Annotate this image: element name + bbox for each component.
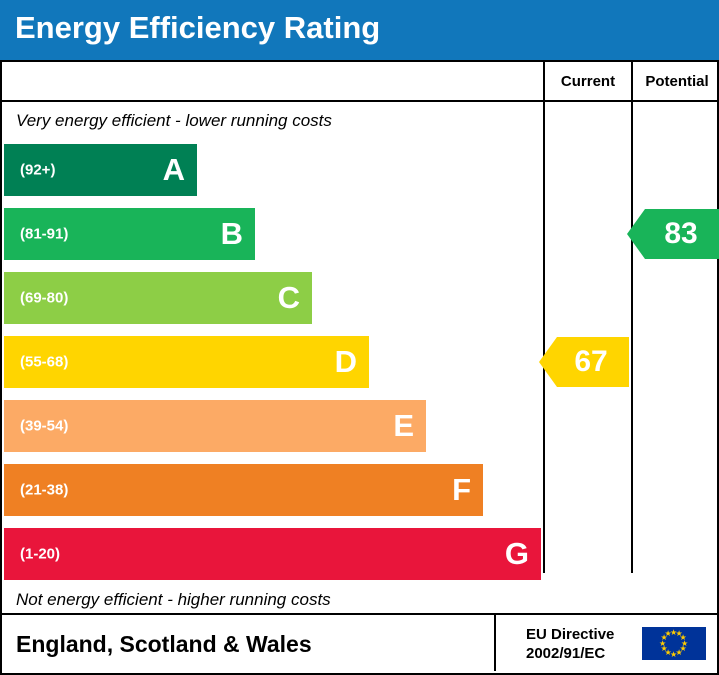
band-letter-g: G	[505, 536, 529, 572]
rating-value-current: 67	[574, 345, 611, 379]
chart-footer: England, Scotland & Wales EU Directive 2…	[0, 615, 719, 675]
band-bar-d: (55-68)D	[4, 336, 369, 388]
arrow-tip-icon	[539, 337, 557, 387]
eu-directive-line1: EU Directive	[526, 625, 614, 644]
chart-header: Energy Efficiency Rating	[0, 0, 719, 60]
band-bar-e: (39-54)E	[4, 400, 426, 452]
arrow-tip-icon	[627, 209, 645, 259]
band-bars: (92+)A(81-91)B(69-80)C(55-68)D(39-54)E(2…	[4, 142, 541, 592]
band-range-g: (1-20)	[20, 546, 60, 563]
band-range-d: (55-68)	[20, 354, 68, 371]
band-letter-b: B	[221, 216, 243, 252]
band-bar-a: (92+)A	[4, 144, 197, 196]
column-header-current: Current	[545, 73, 631, 90]
rating-value-potential: 83	[664, 217, 701, 251]
footer-divider	[494, 615, 496, 671]
eu-directive-text: EU Directive 2002/91/EC	[526, 625, 614, 663]
band-range-c: (69-80)	[20, 290, 68, 307]
page-title: Energy Efficiency Rating	[15, 10, 380, 46]
band-bar-g: (1-20)G	[4, 528, 541, 580]
caption-top: Very energy efficient - lower running co…	[16, 111, 332, 131]
chart-body: Current Potential Very energy efficient …	[0, 60, 719, 615]
band-letter-a: A	[163, 152, 185, 188]
band-letter-f: F	[452, 472, 471, 508]
band-bar-f: (21-38)F	[4, 464, 483, 516]
column-divider-1	[543, 62, 545, 573]
column-divider-2	[631, 62, 633, 573]
rating-arrow-potential: 83	[645, 209, 719, 259]
caption-bottom: Not energy efficient - higher running co…	[16, 590, 331, 610]
band-letter-c: C	[278, 280, 300, 316]
band-range-b: (81-91)	[20, 226, 68, 243]
footer-region: England, Scotland & Wales	[16, 631, 312, 658]
band-range-f: (21-38)	[20, 482, 68, 499]
band-bar-b: (81-91)B	[4, 208, 255, 260]
band-range-a: (92+)	[20, 162, 55, 179]
band-letter-e: E	[393, 408, 414, 444]
eu-flag-icon: ★★★★★★★★★★★★	[642, 627, 706, 660]
epc-certificate: Energy Efficiency Rating Current Potenti…	[0, 0, 719, 675]
band-range-e: (39-54)	[20, 418, 68, 435]
band-bar-c: (69-80)C	[4, 272, 312, 324]
column-header-potential: Potential	[633, 73, 719, 90]
eu-directive-line2: 2002/91/EC	[526, 644, 614, 663]
column-header-row: Current Potential	[2, 62, 717, 102]
band-letter-d: D	[335, 344, 357, 380]
rating-arrow-current: 67	[557, 337, 629, 387]
eu-star-icon: ★	[665, 630, 672, 638]
